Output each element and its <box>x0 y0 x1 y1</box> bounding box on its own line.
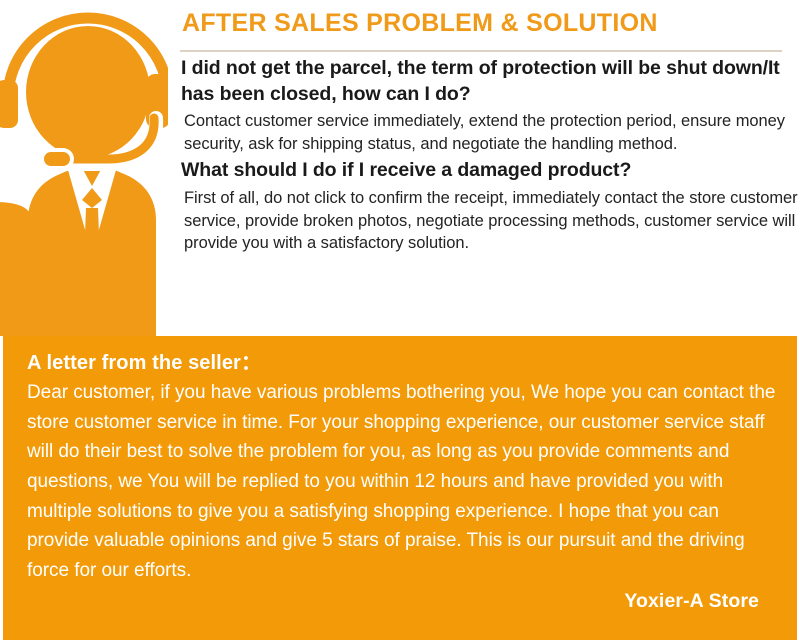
customer-service-agent-headset-icon <box>0 2 182 336</box>
seller-letter-signature: Yoxier-A Store <box>624 590 759 613</box>
seller-letter-body: Dear customer, if you have various probl… <box>27 378 779 585</box>
seller-letter-section: A letter from the seller： Dear customer,… <box>3 336 797 640</box>
faq-answer-1: Contact customer service immediately, ex… <box>184 110 799 156</box>
faq-question-1: I did not get the parcel, the term of pr… <box>181 56 799 107</box>
faq-text-panel: AFTER SALES PROBLEM & SOLUTION I did not… <box>168 0 800 336</box>
seller-letter-title: A letter from the seller： <box>27 346 261 375</box>
page-title: AFTER SALES PROBLEM & SOLUTION <box>182 10 782 38</box>
faq-answer-2: First of all, do not click to confirm th… <box>184 187 799 255</box>
title-divider <box>180 50 782 52</box>
faq-list: I did not get the parcel, the term of pr… <box>181 56 799 257</box>
faq-section: AFTER SALES PROBLEM & SOLUTION I did not… <box>0 0 800 336</box>
after-sales-banner: AFTER SALES PROBLEM & SOLUTION I did not… <box>0 0 800 640</box>
faq-question-2: What should I do if I receive a damaged … <box>181 158 799 184</box>
